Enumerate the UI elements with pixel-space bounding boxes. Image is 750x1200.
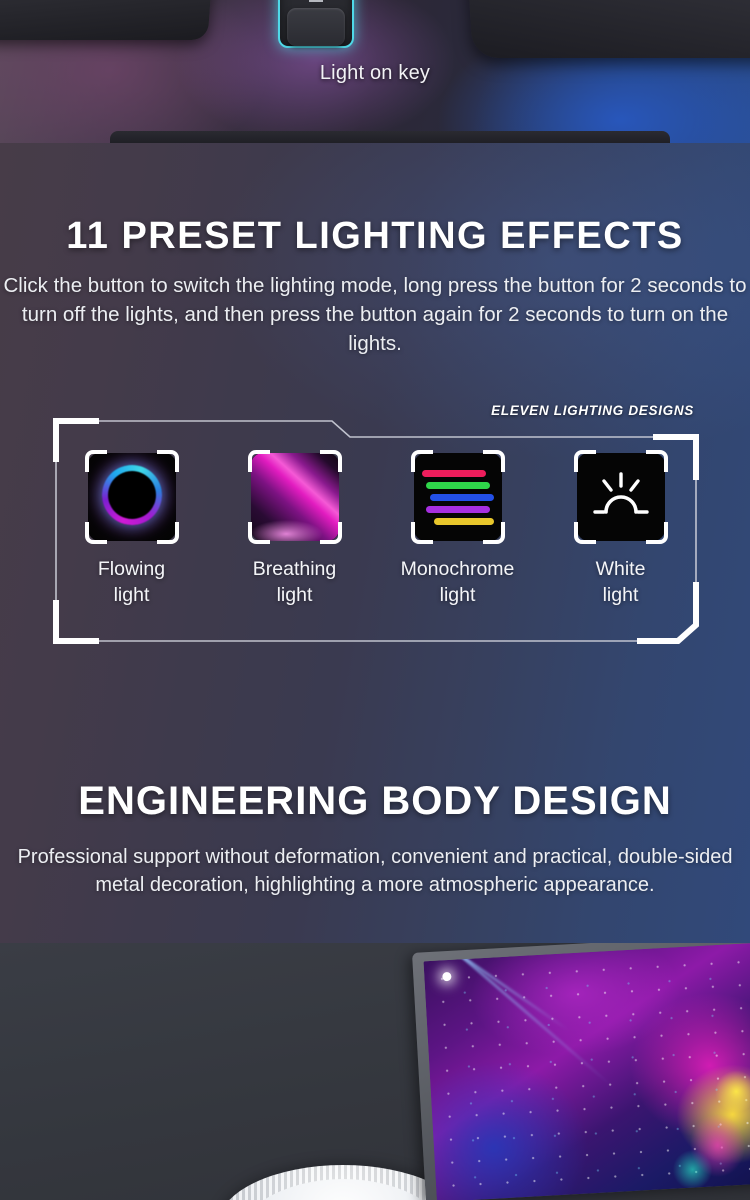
effect-item-flowing[interactable]: Flowing light [57,453,207,608]
lighting-effects-list: Flowing light Breathing light [50,453,702,608]
effect-item-monochrome[interactable]: Monochrome light [383,453,533,608]
light-key-cap[interactable] [287,8,345,46]
effect-label: Flowing light [98,556,165,608]
product-detail-page: Light on key 11 PRESET LIGHTING EFFECTS … [0,0,750,1200]
tile-corner-br-icon [157,522,179,544]
product-scene-photo [0,943,750,1200]
tile-corner-tl-icon [85,450,107,472]
hud-corner-bl [56,603,96,641]
effect-label-line1: Flowing [98,556,165,582]
gaming-monitor [412,943,750,1200]
tile-corner-bl-icon [574,522,596,544]
tile-corner-tl-icon [411,450,433,472]
effect-label-line2: light [253,582,336,608]
monitor-screen [423,943,750,1200]
tile-corner-br-icon [320,522,342,544]
effect-label-line2: light [98,582,165,608]
tile-corner-tr-icon [157,450,179,472]
tile-corner-bl-icon [411,522,433,544]
screen-stage-figure [651,1063,750,1190]
color-bar [430,494,494,501]
effect-item-breathing[interactable]: Breathing light [220,453,370,608]
light-key-glyph-icon [309,0,323,4]
lighting-body-copy: Click the button to switch the lighting … [0,271,750,358]
tile-corner-br-icon [483,522,505,544]
effect-label: White light [596,556,646,608]
effect-label-line2: light [401,582,515,608]
tile-corner-br-icon [646,522,668,544]
effect-label-line1: Monochrome [401,556,515,582]
effect-tile[interactable] [414,453,502,541]
effect-label: Breathing light [253,556,336,608]
tile-corner-bl-icon [248,522,270,544]
effect-tile[interactable] [577,453,665,541]
main-content-panel: 11 PRESET LIGHTING EFFECTS Click the but… [0,143,750,943]
tile-corner-tr-icon [646,450,668,472]
photo-caption: Light on key [0,62,750,85]
tile-corner-tr-icon [483,450,505,472]
keyboard-body-right [468,0,750,58]
effect-label-line2: light [596,582,646,608]
tile-corner-tl-icon [248,450,270,472]
effect-label-line1: Breathing [253,556,336,582]
color-bar [426,482,490,489]
effect-tile[interactable] [251,453,339,541]
effect-label-line1: White [596,556,646,582]
body-design-headline: ENGINEERING BODY DESIGN [0,779,750,824]
keyboard-base-bar [110,131,670,143]
keyboard-body-left [0,0,212,40]
tile-corner-tl-icon [574,450,596,472]
body-design-body-copy: Professional support without deformation… [0,843,750,899]
effect-item-white[interactable]: White light [546,453,696,608]
effect-tile[interactable] [88,453,176,541]
tile-corner-bl-icon [85,522,107,544]
hud-frame-label: ELEVEN LIGHTING DESIGNS [491,403,694,418]
color-bar [426,506,490,513]
effect-label: Monochrome light [401,556,515,608]
tile-corner-tr-icon [320,450,342,472]
keyboard-photo-band: Light on key [0,0,750,143]
lighting-headline: 11 PRESET LIGHTING EFFECTS [0,215,750,258]
